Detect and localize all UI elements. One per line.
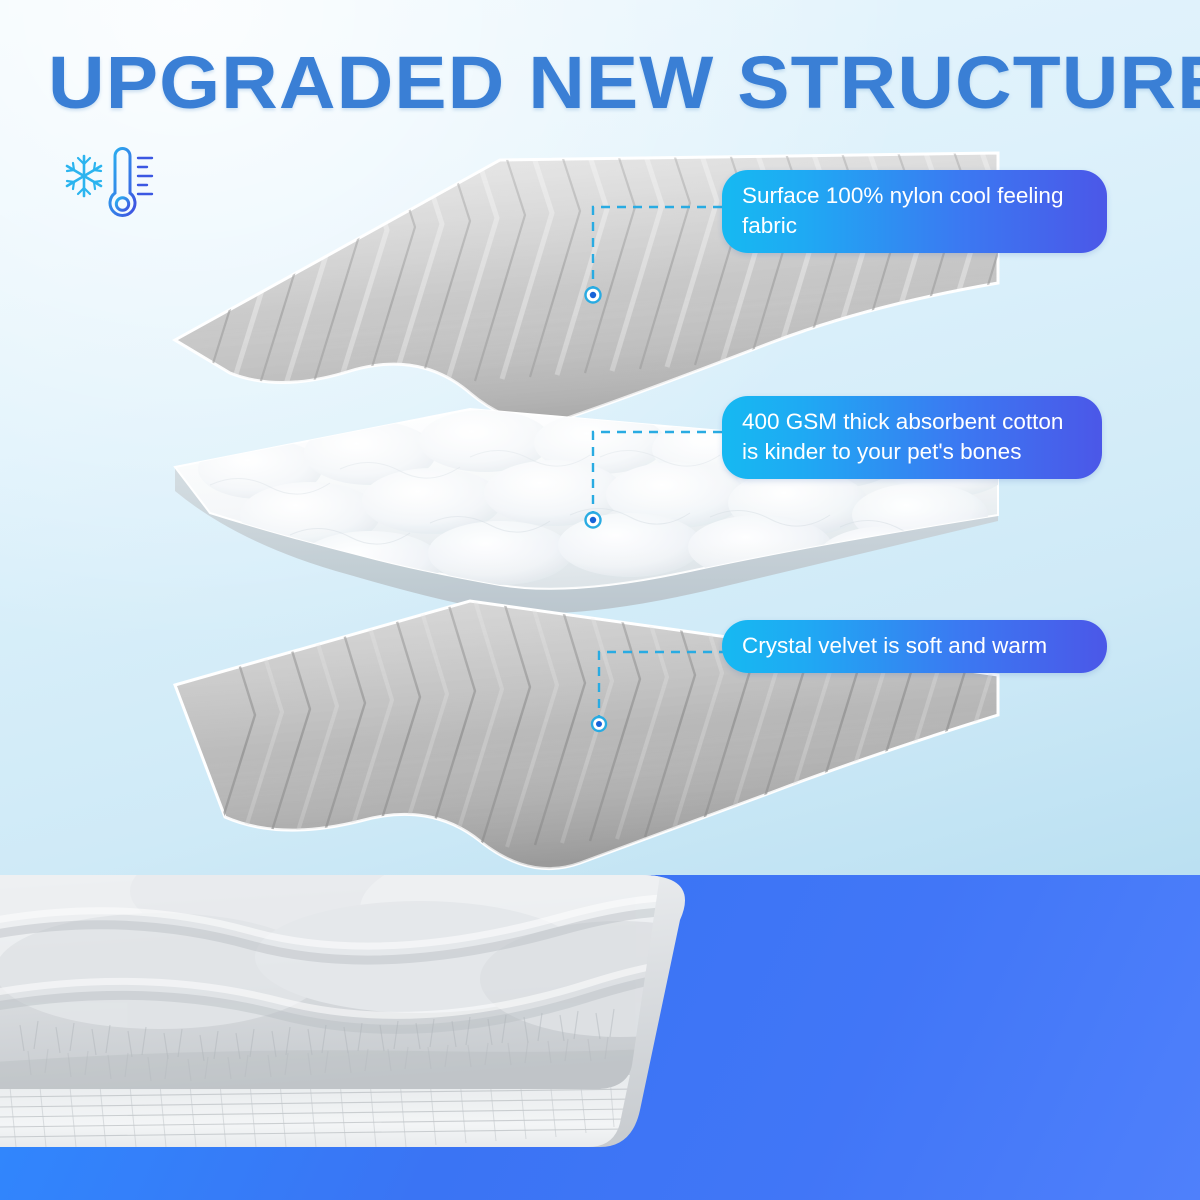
infographic-canvas: UPGRADED NEW STRUCTURE: [0, 0, 1200, 1200]
product-closeup-photo: [0, 875, 700, 1200]
snowflake-thermometer-icon: [58, 142, 166, 228]
callout-crystal-velvet: Crystal velvet is soft and warm: [722, 620, 1107, 673]
page-title: UPGRADED NEW STRUCTURE: [48, 46, 1200, 120]
callout-surface-nylon: Surface 100% nylon cool feeling fabric: [722, 170, 1107, 253]
callout-cotton-fill: 400 GSM thick absorbent cotton is kinder…: [722, 396, 1102, 479]
thickness-panel: Thickness: 1 in: [0, 875, 1200, 1200]
